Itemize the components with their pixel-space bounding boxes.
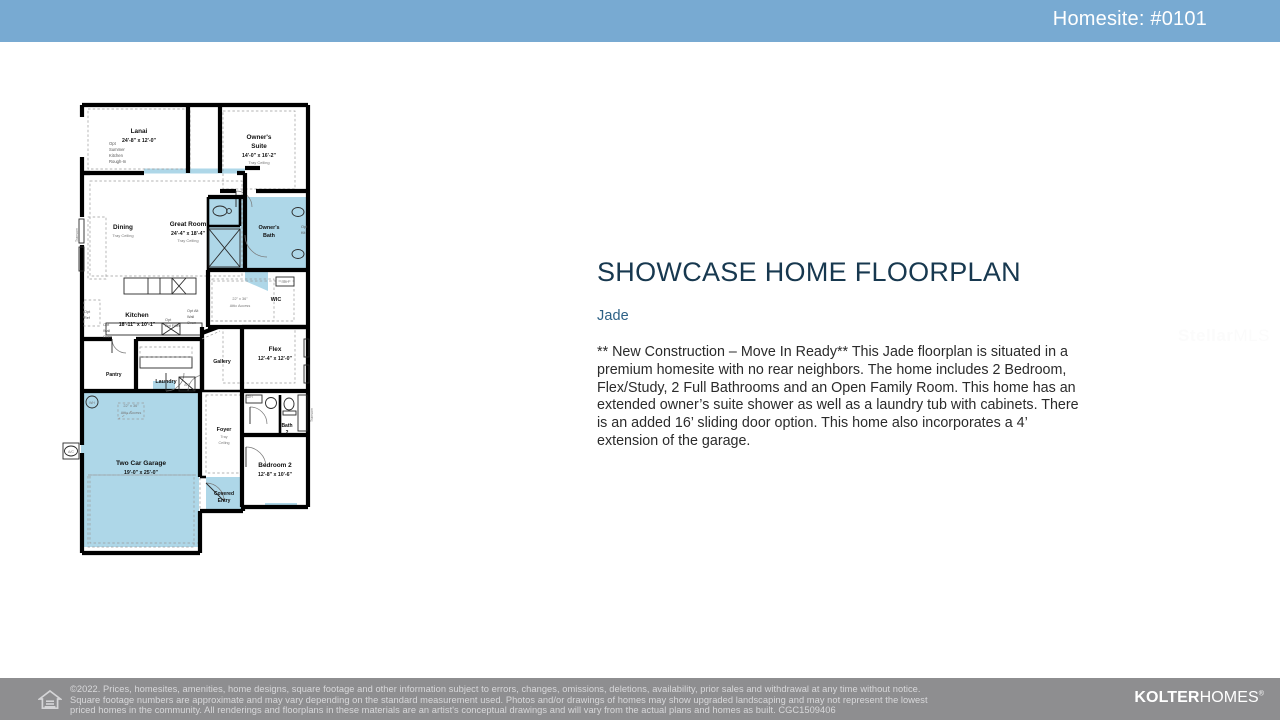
room-sub-great-room: Tray Ceiling: [177, 238, 198, 243]
opt-wall-oven-2: Wall: [103, 329, 110, 333]
room-label-foyer: Foyer: [217, 427, 233, 433]
watermark-bold: Stellar: [1178, 326, 1233, 345]
floorplan-image: .w { stroke:#000; stroke-width:4.2; } .w…: [40, 95, 350, 575]
kolter-homes-logo: KOLTERHOMES®: [1134, 689, 1264, 707]
opt-summer-kitchen-1: Opt: [109, 141, 117, 146]
opt-pot-filler-1: Opt: [165, 318, 172, 322]
room-label-owners-suite-1: Owner's: [247, 134, 272, 141]
room-label-dining: Dining: [113, 224, 133, 231]
attic-access-wic: Attic Access: [230, 304, 251, 308]
room-label-owners-bath-1: Owner's: [258, 225, 279, 231]
attic-access-dim-wic: 22" x 36": [232, 297, 248, 301]
opt-alt-wall-3: Oven: [187, 321, 196, 325]
floorplan-drawing: .w { stroke:#000; stroke-width:4.2; } .w…: [40, 95, 350, 575]
listing-info-panel: SHOWCASE HOME FLOORPLAN Jade ** New Cons…: [597, 258, 1097, 451]
logo-registered-mark: ®: [1259, 691, 1264, 698]
disclaimer-line-1: ©2022. Prices, homesites, amenities, hom…: [70, 684, 1080, 695]
opt-summer-kitchen-4: Rough-In: [109, 159, 127, 164]
room-dim-great-room: 24'-4" x 18'-4": [171, 231, 205, 237]
room-label-owners-bath-2: Bath: [263, 233, 275, 239]
opt-ref-1: Opt: [84, 310, 91, 314]
transom-left-label: Transom: [75, 228, 79, 242]
room-label-bedroom2: Bedroom 2: [258, 462, 292, 469]
room-label-great-room: Great Room: [170, 221, 207, 228]
room-label-covered-entry-1: Covered: [214, 491, 234, 497]
room-dim-bedroom2: 12'-8" x 10'-6": [258, 472, 292, 478]
floorplan-name: Jade: [597, 308, 1097, 324]
stellar-mls-watermark: StellarMLS: [1178, 326, 1270, 346]
room-label-lanai: Lanai: [131, 128, 148, 135]
opt-ref-2: Ref: [84, 316, 91, 320]
room-dim-owners-suite: 14'-0" x 16'-2": [242, 153, 276, 159]
footer-disclaimer: ©2022. Prices, homesites, amenities, hom…: [70, 684, 1080, 716]
watermark-light: MLS: [1233, 326, 1269, 345]
room-label-kitchen: Kitchen: [125, 312, 149, 319]
disclaimer-line-3: priced homes in the community. All rende…: [70, 705, 1080, 716]
listing-description: ** New Construction – Move In Ready** Th…: [597, 344, 1084, 451]
room-label-wic: WIC: [271, 297, 282, 303]
opt-wall-oven-3: Oven: [103, 335, 112, 339]
opt-summer-kitchen-3: Kitchen: [109, 153, 124, 158]
room-label-bath2-2: 2: [286, 430, 289, 436]
room-label-gallery: Gallery: [213, 359, 231, 365]
logo-homes: HOMES: [1200, 689, 1259, 706]
equal-housing-opportunity-icon: [38, 688, 62, 712]
ac-interior-marker: A/C: [184, 383, 190, 387]
room-label-laundry: Laundry: [155, 379, 176, 385]
transom-right-label: Transom: [310, 408, 314, 422]
opt-kit-1: Opt: [301, 225, 308, 229]
attic-access-dim-garage: 22" x 36": [123, 404, 139, 408]
page-header: Homesite: #0101: [0, 0, 1280, 42]
sdh-marker-1: SDH: [281, 280, 289, 284]
room-sub-foyer-1: Tray: [220, 435, 227, 439]
disclaimer-line-2: Square footage numbers are approximate a…: [70, 695, 1080, 706]
room-label-covered-entry-2: Entry: [218, 498, 231, 504]
homesite-label: Homesite: #0101: [1053, 8, 1207, 31]
room-sub-foyer-2: Ceiling: [219, 441, 230, 445]
room-dim-flex: 12'-4" x 12'-0": [258, 356, 292, 362]
room-sub-dining: Tray Ceiling: [112, 233, 133, 238]
opt-summer-kitchen-2: Summer: [109, 147, 125, 152]
opt-alt-wall-2: Wall: [187, 315, 194, 319]
logo-kolter: KOLTER: [1134, 689, 1199, 706]
room-sub-owners-suite: Tray Ceiling: [248, 160, 269, 165]
attic-access-garage: Attic Access: [121, 411, 142, 415]
room-label-owners-suite-2: Suite: [251, 143, 267, 150]
room-label-bath2-1: Bath: [281, 423, 292, 429]
room-dim-lanai: 24'-8" x 12'-0": [122, 138, 156, 144]
opt-wall-oven-1: Opt: [103, 323, 110, 327]
opt-alt-wall-1: Opt Alt: [187, 309, 199, 313]
room-dim-kitchen: 18'-11" x 10'-1": [119, 322, 156, 328]
water-heater-marker: WH: [89, 401, 95, 405]
room-label-garage: Two Car Garage: [116, 460, 166, 467]
room-label-pantry: Pantry: [106, 372, 122, 378]
sdh-marker-2: SDH: [245, 395, 253, 399]
ac-unit-marker: A/C: [68, 450, 74, 454]
room-label-flex: Flex: [269, 346, 282, 353]
opt-pot-filler-2: Pot Filler: [165, 324, 181, 328]
room-dim-garage: 19'-0" x 25'-0": [124, 470, 158, 476]
page-title: SHOWCASE HOME FLOORPLAN: [597, 258, 1097, 288]
